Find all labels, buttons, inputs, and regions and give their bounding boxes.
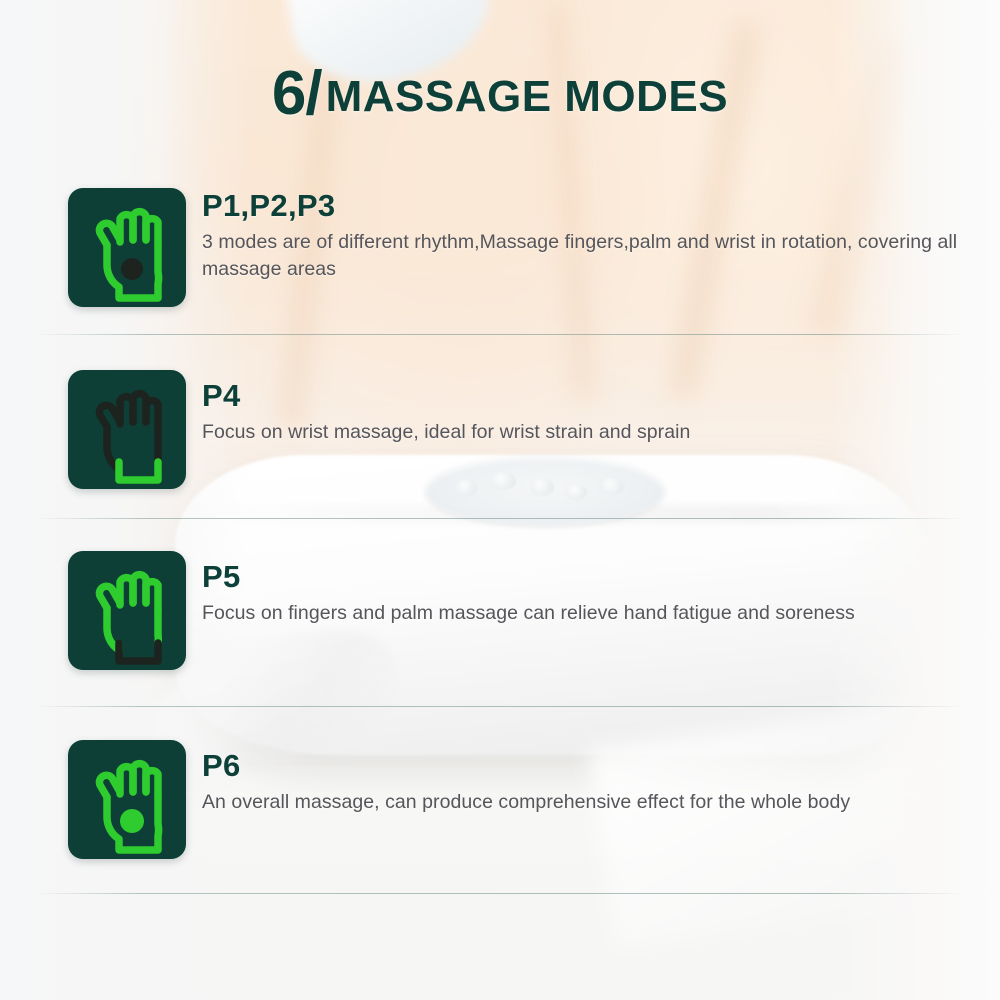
mode-description: Focus on fingers and palm massage can re… (202, 600, 960, 628)
hand-icon-p6 (68, 740, 186, 859)
title-number: 6/ (272, 59, 322, 128)
mode-text-p4: P4 Focus on wrist massage, ideal for wri… (202, 380, 960, 446)
hand-icon-p1-p2-p3 (68, 188, 186, 307)
page-title: 6/MASSAGE MODES (0, 58, 1000, 129)
title-label: MASSAGE MODES (326, 72, 729, 121)
mode-description: An overall massage, can produce comprehe… (202, 789, 960, 817)
hand-icon-p5 (68, 551, 186, 670)
divider-2 (35, 518, 965, 519)
mode-title: P4 (202, 380, 960, 413)
mode-text-p6: P6 An overall massage, can produce compr… (202, 750, 960, 816)
mode-text-p5: P5 Focus on fingers and palm massage can… (202, 561, 960, 627)
hand-icon-p4 (68, 370, 186, 489)
mode-title: P1,P2,P3 (202, 190, 960, 223)
palm-dot (120, 809, 144, 833)
divider-3 (35, 706, 965, 707)
infographic-canvas: 6/MASSAGE MODES (0, 0, 1000, 1000)
palm-dot (121, 258, 143, 280)
mode-title: P6 (202, 750, 960, 783)
divider-1 (35, 334, 965, 335)
mode-description: Focus on wrist massage, ideal for wrist … (202, 419, 960, 447)
foreground-content: 6/MASSAGE MODES (0, 0, 1000, 1000)
mode-text-p1-p2-p3: P1,P2,P3 3 modes are of different rhythm… (202, 190, 960, 284)
mode-title: P5 (202, 561, 960, 594)
mode-description: 3 modes are of different rhythm,Massage … (202, 229, 960, 284)
divider-4 (35, 893, 965, 894)
